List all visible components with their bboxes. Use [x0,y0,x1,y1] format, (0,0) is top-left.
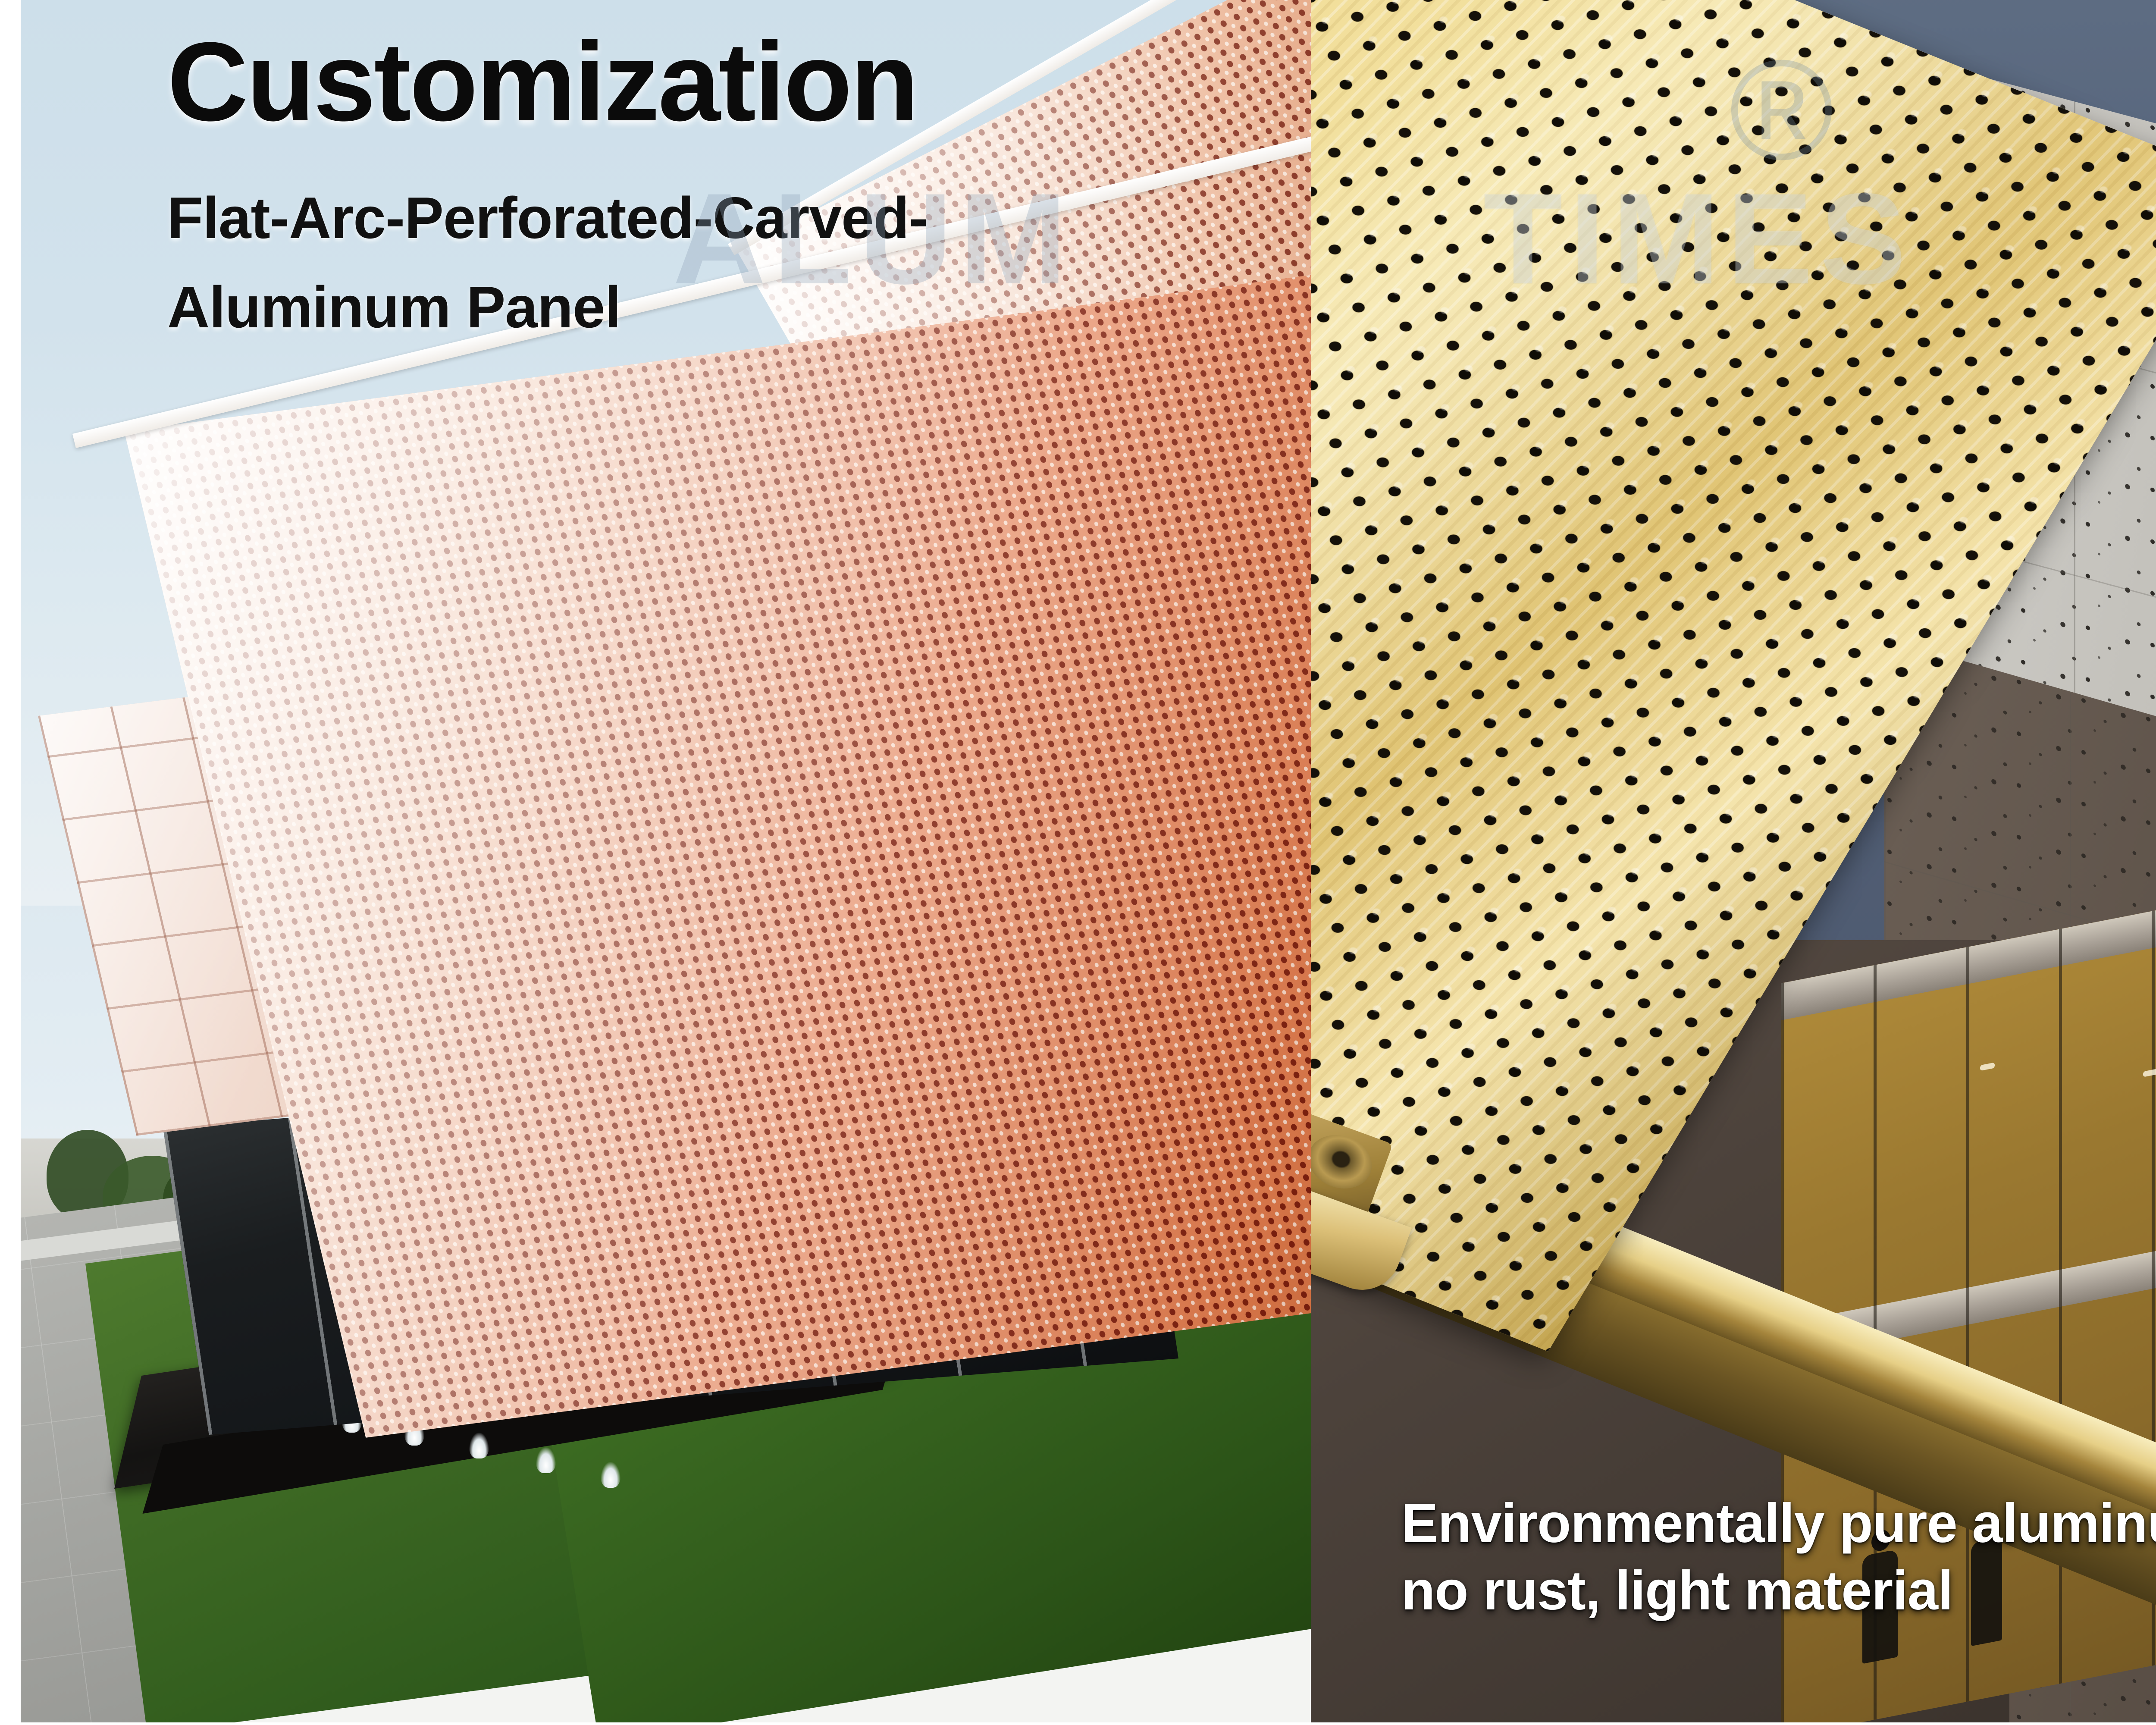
product-caption: Environmentally pure aluminum, no rust, … [1401,1490,2156,1625]
page-title: Customization [167,26,1288,138]
left-photo-panel: Customization Flat-Arc-Perforated-Carved… [21,0,1311,1725]
frame-left-edge [0,0,21,1725]
registered-trademark-icon: ® [1729,39,1834,181]
caption-line-1: Environmentally pure aluminum, [1401,1490,2156,1557]
water-jet [536,1447,556,1473]
product-banner: Customization Flat-Arc-Perforated-Carved… [0,0,2156,1725]
caption-line-2: no rust, light material [1401,1557,2156,1625]
water-jet [469,1433,489,1458]
watermark-text-left: ALUM [673,164,1074,313]
watermark-text: TIMES [1483,164,1913,313]
water-jet [601,1462,620,1488]
frame-bottom-edge [0,1722,2156,1725]
